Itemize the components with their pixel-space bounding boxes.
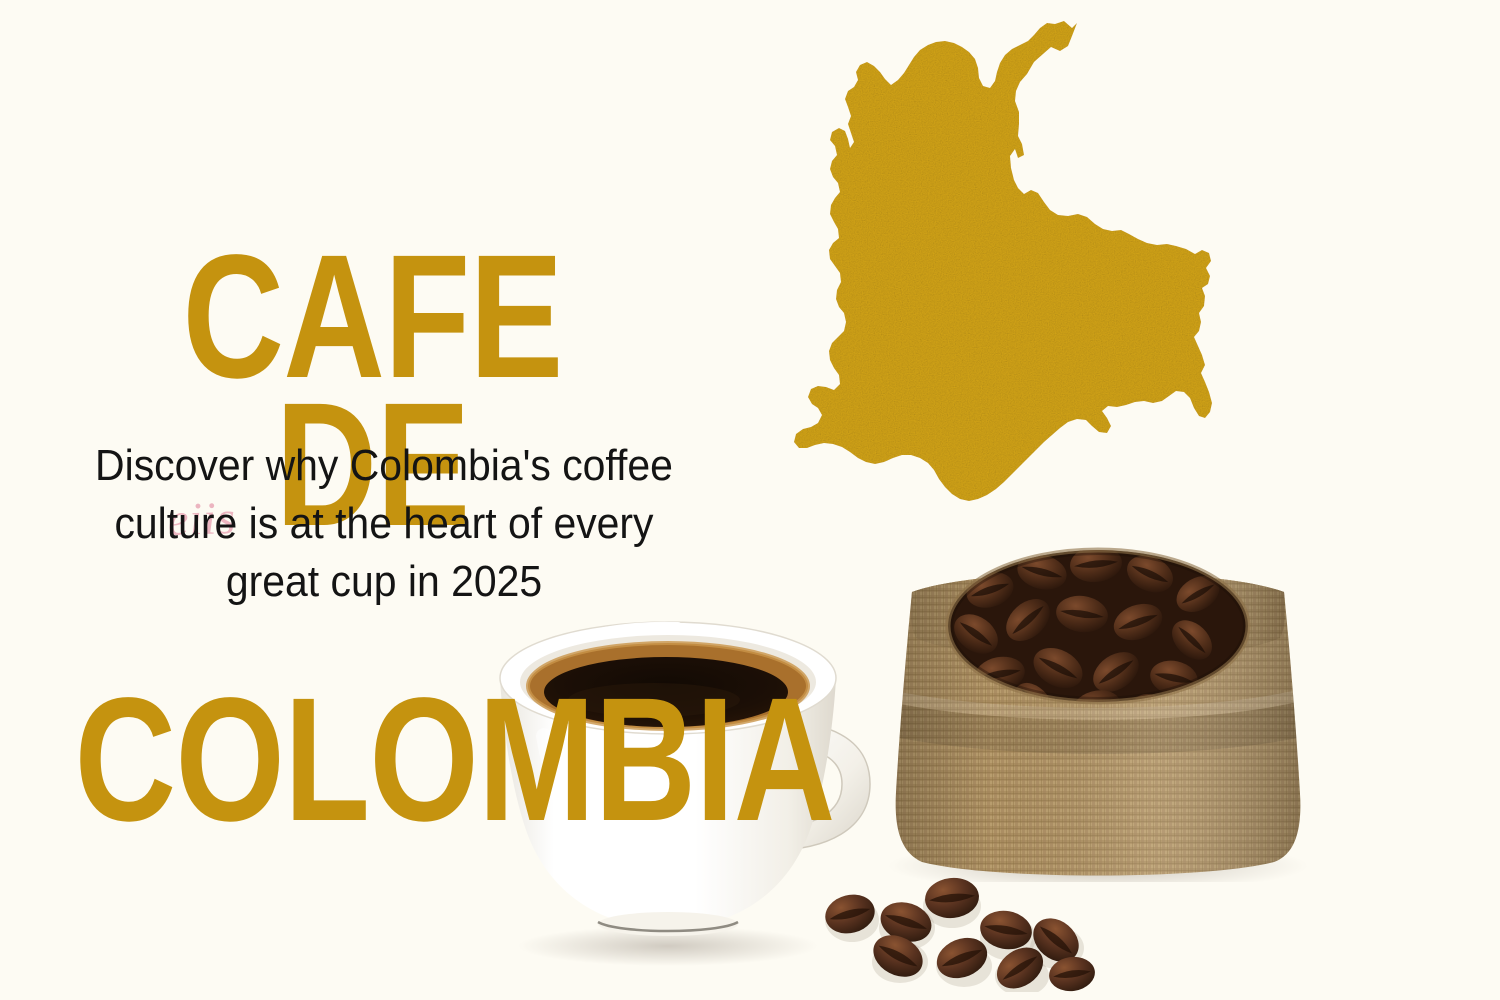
subtitle-line-2: culture is at the heart of every <box>59 495 710 553</box>
subtitle-text: Discover why Colombia's coffee culture i… <box>59 437 710 611</box>
burlap-sack-graphic <box>882 522 1314 882</box>
scattered-coffee-beans-graphic <box>812 866 1102 992</box>
poster-canvas: CAFE DE COLOMBIA eiis Discover why Colom… <box>0 0 1500 1000</box>
colombia-map-graphic <box>772 18 1242 558</box>
subtitle-line-1: Discover why Colombia's coffee <box>59 437 710 495</box>
headline-line-2: COLOMBIA <box>75 687 671 835</box>
subtitle-line-3: great cup in 2025 <box>59 553 710 611</box>
